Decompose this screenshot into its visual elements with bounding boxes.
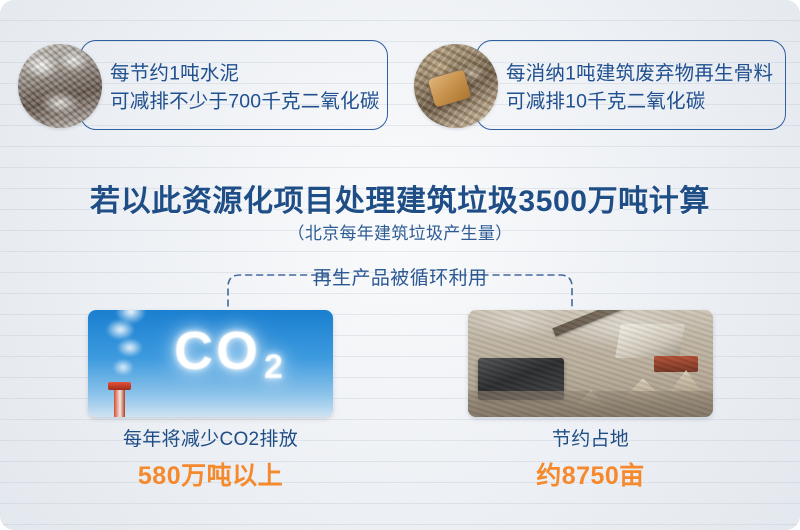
site-grain-overlay xyxy=(468,310,713,417)
cement-powder-texture xyxy=(18,44,102,128)
site-background xyxy=(468,310,713,417)
debris-grain-overlay xyxy=(414,44,498,128)
fact-line-2: 可减排10千克二氧化碳 xyxy=(506,88,773,116)
fact-card-waste: 每消纳1吨建筑废弃物再生骨料 可减排10千克二氧化碳 xyxy=(414,40,786,136)
smoke-plume xyxy=(102,310,150,387)
construction-waste-texture xyxy=(414,44,498,128)
fact-line-2: 可减排不少于700千克二氧化碳 xyxy=(110,88,380,116)
connector-label: 再生产品被循环利用 xyxy=(307,263,494,290)
cloud-letter-2: 2 xyxy=(264,348,283,387)
result-value-land: 约8750亩 xyxy=(468,456,713,492)
fact-card-cement: 每节约1吨水泥 可减排不少于700千克二氧化碳 xyxy=(18,40,388,136)
page-title: 若以此资源化项目处理建筑垃圾3500万吨计算 xyxy=(0,176,800,220)
crushing-plant-photo xyxy=(468,310,713,417)
infographic-canvas: 每节约1吨水泥 可减排不少于700千克二氧化碳 每消纳1吨建筑废弃物再生骨料 可… xyxy=(0,0,800,530)
smokestack-cap xyxy=(108,382,131,390)
co2-sky-photo: C O 2 xyxy=(88,310,333,417)
result-panel-co2: C O 2 每年将减少CO2排放 580万吨以上 xyxy=(88,310,333,492)
result-caption-land: 节约占地 xyxy=(468,429,713,451)
result-caption-co2: 每年将减少CO2排放 xyxy=(88,429,333,451)
page-subtitle: （北京每年建筑垃圾产生量） xyxy=(0,219,800,244)
result-panel-land: 节约占地 约8750亩 xyxy=(468,310,713,492)
sky-background: C O 2 xyxy=(88,310,333,417)
fact-text-waste: 每消纳1吨建筑废弃物再生骨料 可减排10千克二氧化碳 xyxy=(506,60,773,115)
fact-line-1: 每节约1吨水泥 xyxy=(110,60,380,88)
result-value-co2: 580万吨以上 xyxy=(88,456,333,492)
cloud-letter-o: O xyxy=(216,320,258,382)
cloud-letter-c: C xyxy=(174,320,213,382)
cement-powder-photo xyxy=(18,44,102,128)
construction-waste-photo xyxy=(414,44,498,128)
fact-line-1: 每消纳1吨建筑废弃物再生骨料 xyxy=(506,60,773,88)
fact-text-cement: 每节约1吨水泥 可减排不少于700千克二氧化碳 xyxy=(110,60,380,115)
